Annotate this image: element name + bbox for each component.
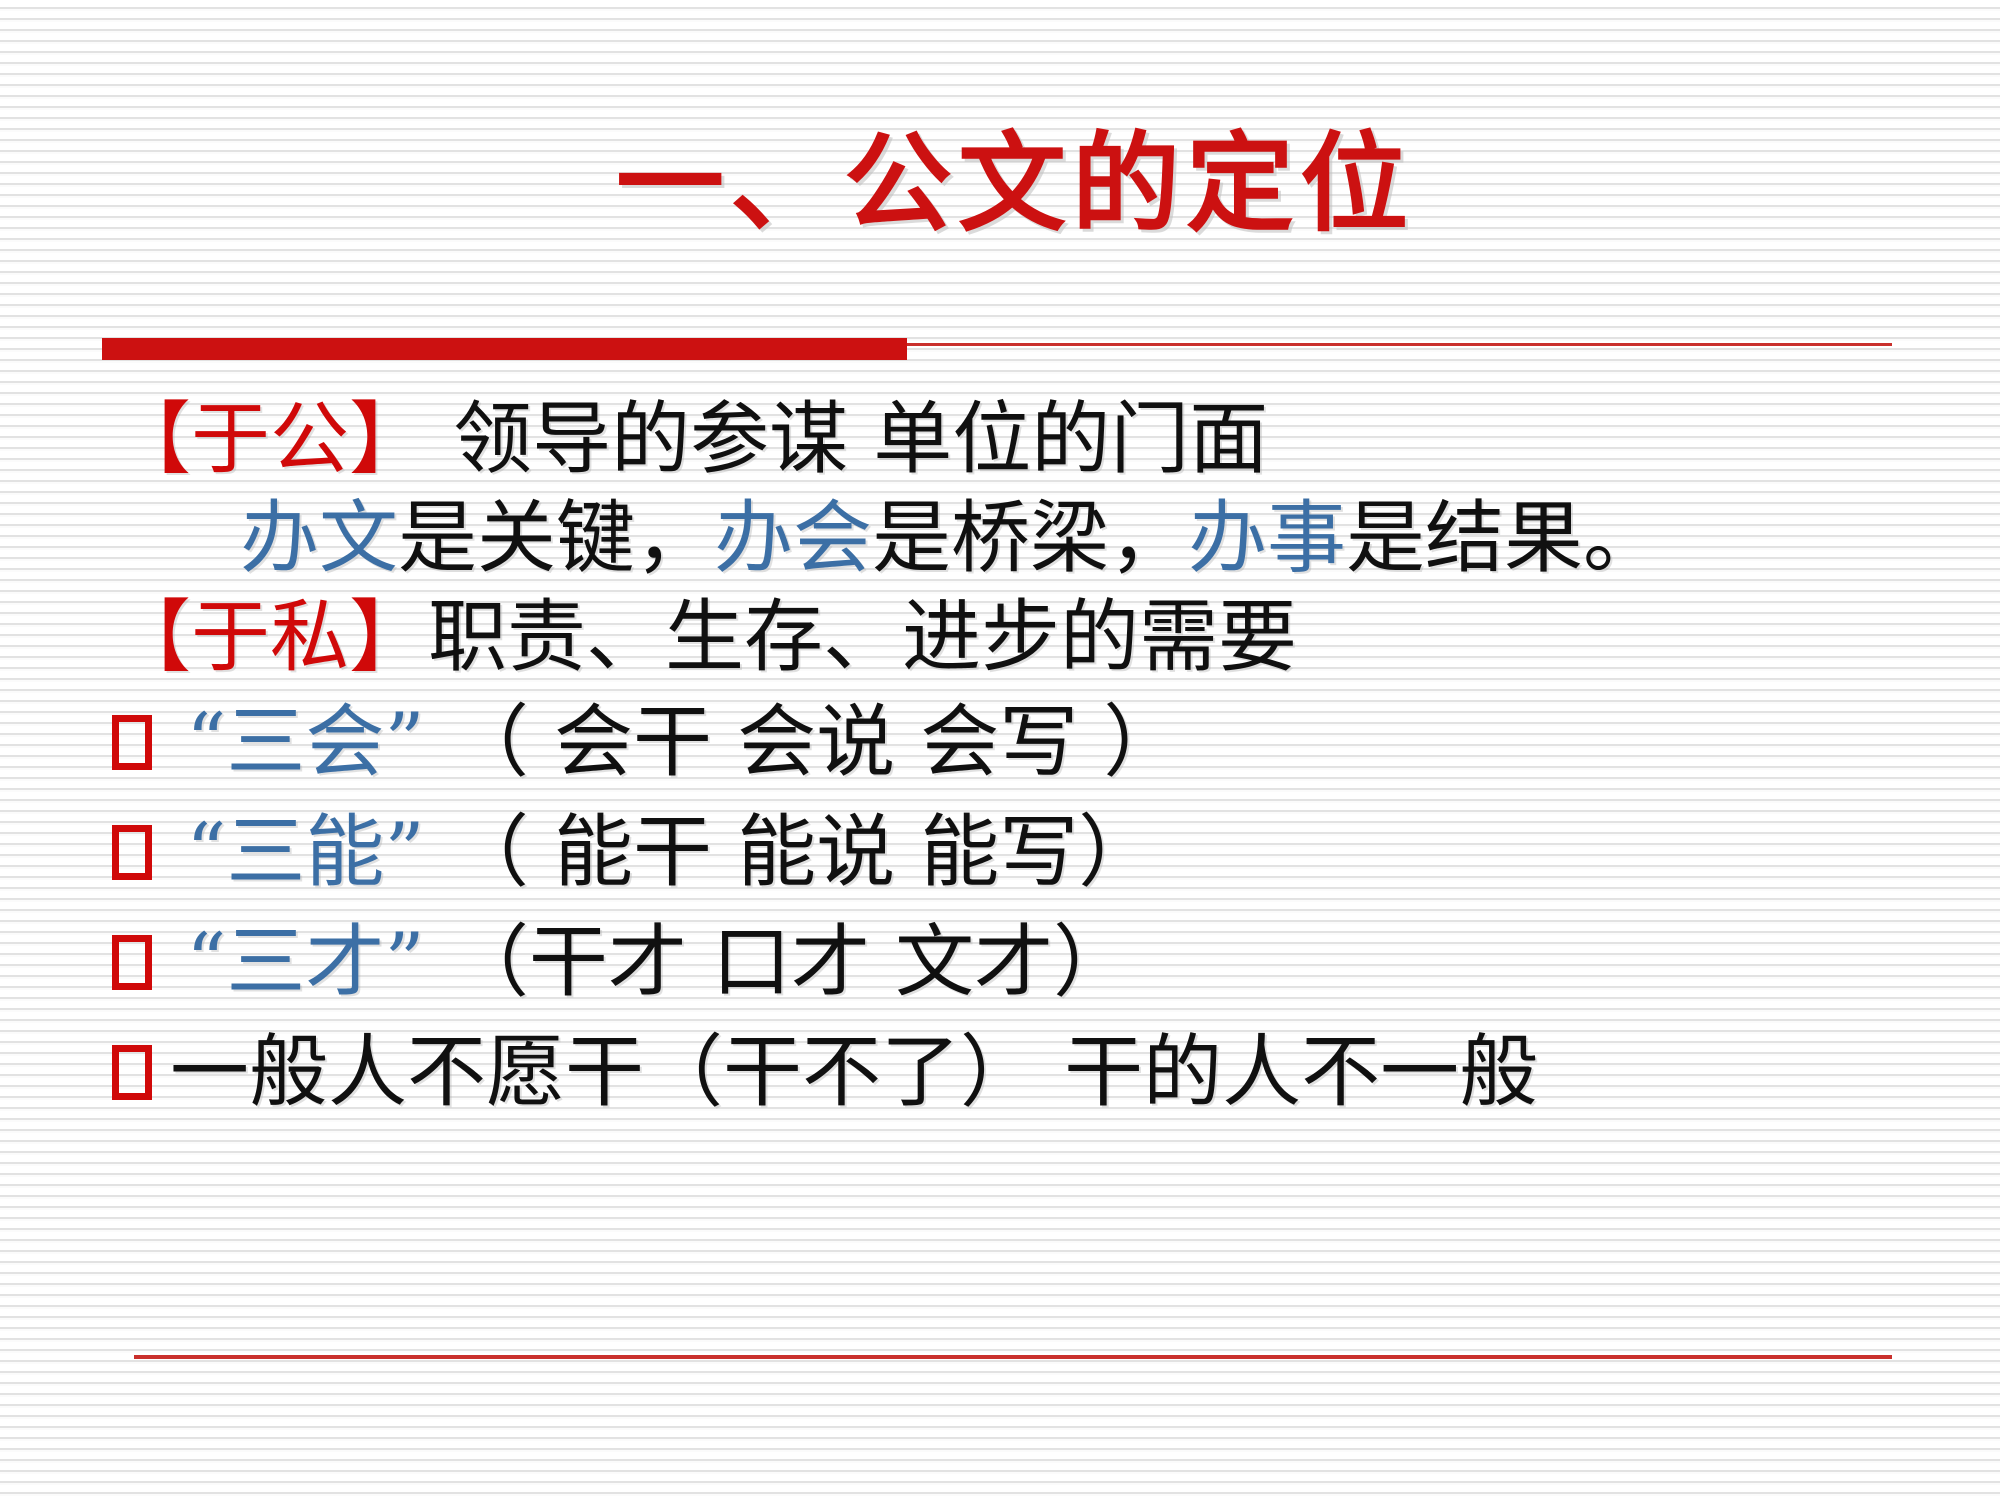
slide-title-row: 一、公文的定位 xyxy=(0,128,2000,241)
quote-close-mark: ” xyxy=(384,696,424,788)
quote-open-mark: “ xyxy=(186,806,226,898)
square-bullet-icon xyxy=(112,1045,152,1100)
list-item: “三才” （干才 口才 文才） xyxy=(112,907,1900,1017)
list-item-content: 一般人不愿干（干不了） 干的人不一般 xyxy=(170,1017,1538,1127)
label-yusi: 【于私】 xyxy=(112,591,428,683)
keyword-banshi: 办事 xyxy=(1188,492,1346,584)
list-item-keyword: 三会 xyxy=(226,696,384,788)
square-bullet-icon xyxy=(112,825,152,880)
square-bullet-icon xyxy=(112,935,152,990)
list-item-keyword: 三才 xyxy=(226,916,384,1008)
divider-thick-bar xyxy=(102,338,907,360)
slide-body: 【于公】 领导的参谋 单位的门面 办文是关键，办会是桥梁，办事是结果。 【于私】… xyxy=(0,390,2000,1127)
body-line-yugong: 【于公】 领导的参谋 单位的门面 xyxy=(112,390,1900,489)
quote-open-mark: “ xyxy=(186,696,226,788)
list-item-detail: （ 能干 能说 能写） xyxy=(425,806,1157,898)
list-item: “三能” （ 能干 能说 能写） xyxy=(112,797,1900,907)
list-item-keyword: 三能 xyxy=(226,806,384,898)
keyword-banwen: 办文 xyxy=(240,492,398,584)
list-item-detail: （ 会干 会说 会写 ） xyxy=(425,696,1183,788)
list-item-content: “三能” （ 能干 能说 能写） xyxy=(186,797,1157,907)
square-bullet-icon xyxy=(112,715,152,770)
text-banshi-rest: 是结果。 xyxy=(1346,492,1662,584)
quote-open-mark: “ xyxy=(186,916,226,1008)
list-item-detail: 一般人不愿干（干不了） 干的人不一般 xyxy=(170,1026,1538,1118)
list-item-detail: （干才 口才 文才） xyxy=(425,916,1132,1008)
body-line-yugong-text: 领导的参谋 单位的门面 xyxy=(428,393,1268,485)
list-item: 一般人不愿干（干不了） 干的人不一般 xyxy=(112,1017,1900,1127)
footer-rule xyxy=(134,1355,1892,1359)
label-yugong: 【于公】 xyxy=(112,393,428,485)
text-banwen-rest: 是关键， xyxy=(398,492,714,584)
quote-close-mark: ” xyxy=(384,916,424,1008)
body-line-yusi: 【于私】职责、生存、进步的需要 xyxy=(112,588,1900,687)
body-line-yusi-text: 职责、生存、进步的需要 xyxy=(428,591,1297,683)
quote-close-mark: ” xyxy=(384,806,424,898)
list-item-content: “三会” （ 会干 会说 会写 ） xyxy=(186,687,1182,797)
slide-canvas: 一、公文的定位 【于公】 领导的参谋 单位的门面 办文是关键，办会是桥梁，办事是… xyxy=(0,0,2000,1500)
page-title: 一、公文的定位 xyxy=(616,128,1414,241)
list-item: “三会” （ 会干 会说 会写 ） xyxy=(112,687,1900,797)
keyword-banhui: 办会 xyxy=(714,492,872,584)
list-item-content: “三才” （干才 口才 文才） xyxy=(186,907,1132,1017)
body-line-banwen: 办文是关键，办会是桥梁，办事是结果。 xyxy=(112,489,1900,588)
text-banhui-rest: 是桥梁， xyxy=(872,492,1188,584)
title-divider xyxy=(0,333,2000,361)
